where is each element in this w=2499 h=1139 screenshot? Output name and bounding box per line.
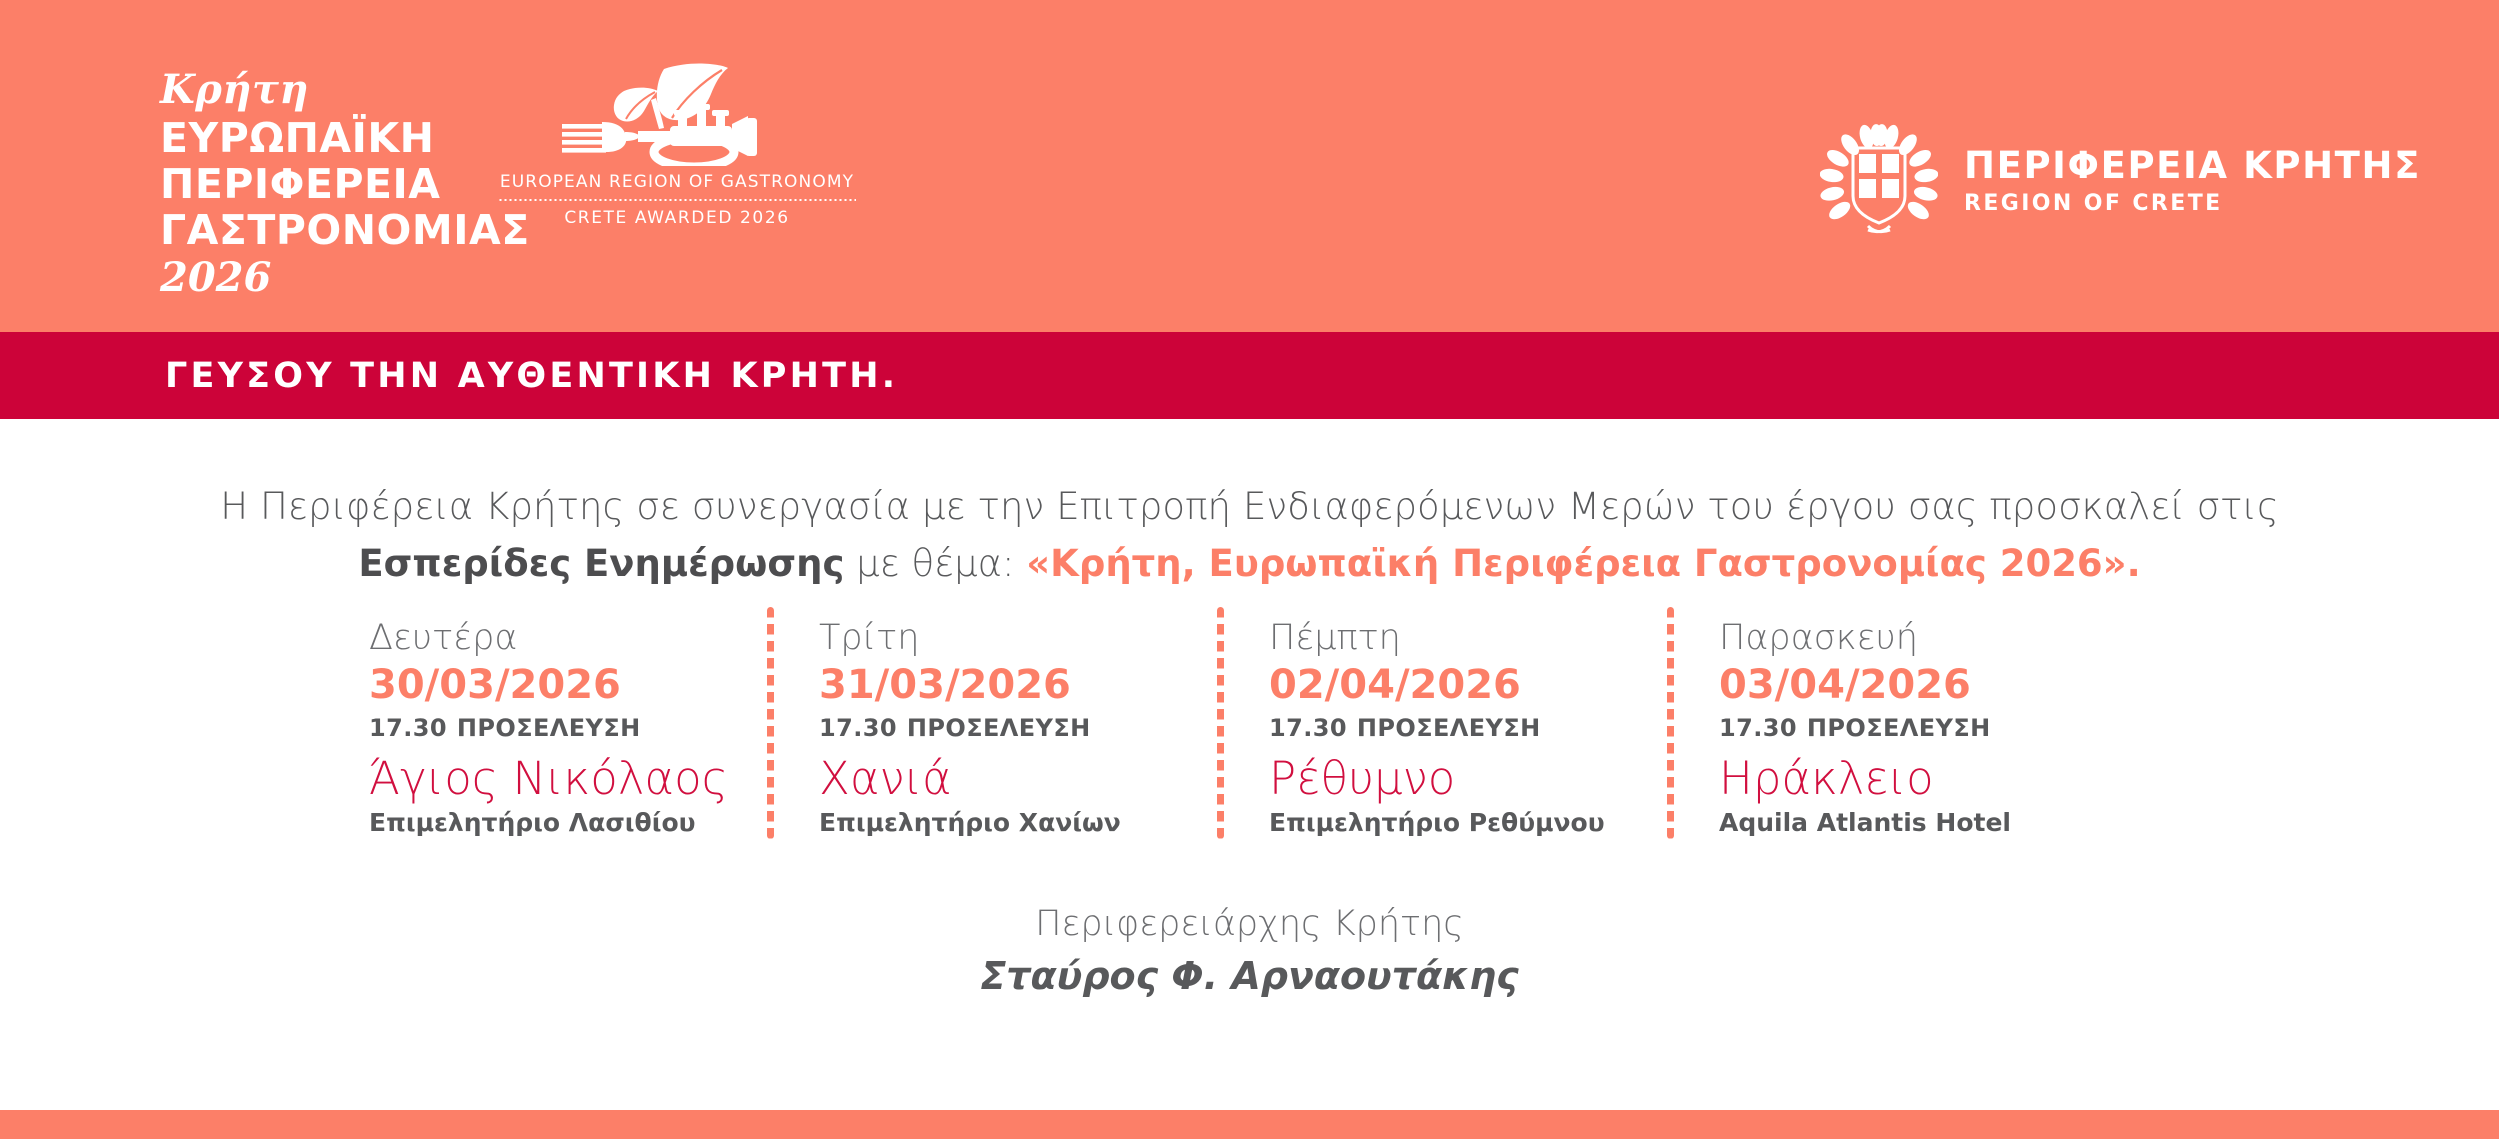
event-time-label: ΠΡΟΣΕΛΕΥΣΗ [1357, 714, 1541, 742]
event-day: Δευτέρα [369, 619, 805, 658]
erg-wordmark-kriti: Κρήτη [160, 70, 530, 110]
event-venue: Επιμελητήριο Λασιθίου [369, 808, 805, 837]
invitation-poster: Κρήτη ΕΥΡΩΠΑΪΚΗ ΠΕΡΙΦΕΡΕΙΑ ΓΑΣΤΡΟΝΟΜΙΑΣ … [0, 0, 2499, 1139]
slogan-band: ΓΕΥΣΟΥ ΤΗΝ ΑΥΘΕΝΤΙΚΗ ΚΡΗΤΗ. [0, 332, 2499, 419]
event-column-3: Πέμπτη 02/04/2026 17.30ΠΡΟΣΕΛΕΥΣΗ Ρέθυμν… [1255, 619, 1705, 854]
body-area: Η Περιφέρεια Κρήτης σε συνεργασία με την… [0, 419, 2499, 1110]
signature-block: Περιφερειάρχης Κρήτης Σταύρος Φ. Αρναουτ… [0, 904, 2499, 998]
event-city: Άγιος Νικόλαος [369, 754, 805, 804]
intro-paragraph: Η Περιφέρεια Κρήτης σε συνεργασία με την… [0, 485, 2499, 585]
erg-wordmark-line3: ΓΑΣΤΡΟΝΟΜΙΑΣ [160, 208, 530, 254]
erg-wordmark-line2: ΠΕΡΙΦΕΡΕΙΑ [160, 162, 530, 208]
column-divider [1217, 607, 1224, 839]
event-time-label: ΠΡΟΣΕΛΕΥΣΗ [457, 714, 641, 742]
event-venue: Επιμελητήριο Ρεθύμνου [1269, 808, 1705, 837]
region-of-crete-lockup: ΠΕΡΙΦΕΡΕΙΑ ΚΡΗΤΗΣ REGION OF CRETE [1820, 122, 2421, 240]
event-date: 02/04/2026 [1269, 662, 1705, 708]
erg-emblem-lockup: EUROPEAN REGION OF GASTRONOMY CRETE AWAR… [487, 62, 867, 228]
erg-dotted-divider [498, 199, 856, 201]
event-time-row: 17.30ΠΡΟΣΕΛΕΥΣΗ [819, 714, 1255, 742]
event-column-2: Τρίτη 31/03/2026 17.30ΠΡΟΣΕΛΕΥΣΗ Χανιά Ε… [805, 619, 1255, 854]
header-band: Κρήτη ΕΥΡΩΠΑΪΚΗ ΠΕΡΙΦΕΡΕΙΑ ΓΑΣΤΡΟΝΟΜΙΑΣ … [0, 0, 2499, 332]
event-date: 03/04/2026 [1719, 662, 2155, 708]
event-time: 17.30 [1719, 714, 1797, 742]
erg-wordmark-line1: ΕΥΡΩΠΑΪΚΗ [160, 116, 530, 162]
intro-line-1: Η Περιφέρεια Κρήτης σε συνεργασία με την… [0, 485, 2499, 528]
event-column-1: Δευτέρα 30/03/2026 17.30ΠΡΟΣΕΛΕΥΣΗ Άγιος… [355, 619, 805, 854]
footer-strip [0, 1110, 2499, 1139]
signature-role: Περιφερειάρχης Κρήτης [0, 904, 2499, 944]
event-city: Ηράκλειο [1719, 754, 2155, 804]
event-date: 31/03/2026 [819, 662, 1255, 708]
column-divider [1667, 607, 1674, 839]
erg-caption-bottom: CRETE AWARDED 2026 [487, 208, 867, 228]
intro-line-2: Εσπερίδες Ενημέρωσης με θέμα: «Κρήτη, Ευ… [0, 542, 2499, 585]
event-time-label: ΠΡΟΣΕΛΕΥΣΗ [907, 714, 1091, 742]
erg-crete-wordmark: Κρήτη ΕΥΡΩΠΑΪΚΗ ΠΕΡΙΦΕΡΕΙΑ ΓΑΣΤΡΟΝΟΜΙΑΣ … [160, 70, 530, 298]
event-time-row: 17.30ΠΡΟΣΕΛΕΥΣΗ [369, 714, 805, 742]
event-time-row: 17.30ΠΡΟΣΕΛΕΥΣΗ [1719, 714, 2155, 742]
crete-shield-laurel-icon [1820, 122, 1938, 240]
slogan-text: ΓΕΥΣΟΥ ΤΗΝ ΑΥΘΕΝΤΙΚΗ ΚΡΗΤΗ. [165, 356, 898, 396]
event-time: 17.30 [819, 714, 897, 742]
event-venue: Επιμελητήριο Χανίων [819, 808, 1255, 837]
event-time: 17.30 [369, 714, 447, 742]
intro-connector: με θέμα: [844, 542, 1026, 585]
intro-theme: «Κρήτη, Ευρωπαϊκή Περιφέρεια Γαστρονομία… [1026, 542, 2140, 585]
intro-event-name: Εσπερίδες Ενημέρωσης [358, 542, 844, 585]
event-column-4: Παρασκευή 03/04/2026 17.30ΠΡΟΣΕΛΕΥΣΗ Ηρά… [1705, 619, 2155, 854]
event-city: Χανιά [819, 754, 1255, 804]
erg-wordmark-year: 2026 [160, 258, 530, 298]
event-day: Παρασκευή [1719, 619, 2155, 658]
region-title-en: REGION OF CRETE [1964, 192, 2421, 215]
fork-trumpet-leaves-icon [552, 62, 802, 166]
event-city: Ρέθυμνο [1269, 754, 1705, 804]
events-row: Δευτέρα 30/03/2026 17.30ΠΡΟΣΕΛΕΥΣΗ Άγιος… [355, 619, 2155, 854]
event-date: 30/03/2026 [369, 662, 805, 708]
event-venue: Aquila Atlantis Hotel [1719, 808, 2155, 837]
event-time: 17.30 [1269, 714, 1347, 742]
event-time-row: 17.30ΠΡΟΣΕΛΕΥΣΗ [1269, 714, 1705, 742]
event-day: Πέμπτη [1269, 619, 1705, 658]
region-title-gr: ΠΕΡΙΦΕΡΕΙΑ ΚΡΗΤΗΣ [1964, 147, 2421, 186]
event-day: Τρίτη [819, 619, 1255, 658]
column-divider [767, 607, 774, 839]
erg-caption-top: EUROPEAN REGION OF GASTRONOMY [487, 172, 867, 192]
event-time-label: ΠΡΟΣΕΛΕΥΣΗ [1807, 714, 1991, 742]
signature-name: Σταύρος Φ. Αρναουτάκης [0, 954, 2499, 998]
